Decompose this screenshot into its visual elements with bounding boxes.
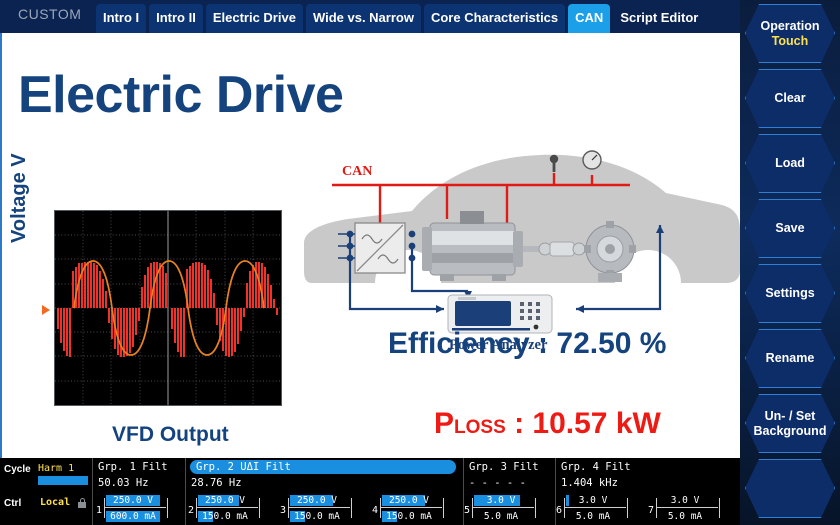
softkey-set-background-label: Un- / Set (765, 409, 816, 424)
softkey-operation-sub: Touch (772, 34, 809, 49)
softkey-rename[interactable]: Rename (745, 329, 835, 388)
softkey-load[interactable]: Load (745, 134, 835, 193)
tab-wide-vs-narrow[interactable]: Wide vs. Narrow (306, 4, 421, 33)
group-4-title: Grp. 4 Filt (561, 461, 631, 473)
tab-can[interactable]: CAN (568, 4, 610, 33)
channel-current: 5.0 mA (658, 511, 712, 522)
channel-number: 6 (556, 505, 562, 516)
channel-number: 4 (372, 505, 378, 516)
custom-menu-label[interactable]: CUSTOM (18, 6, 81, 22)
group-3-title: Grp. 3 Filt (469, 461, 539, 473)
main-canvas: Electric Drive CAN (0, 33, 740, 458)
vehicle-schematic: CAN (292, 113, 740, 363)
channel-number: 1 (96, 505, 102, 516)
can-bus-label: CAN (342, 164, 372, 179)
tab-intro-i[interactable]: Intro I (96, 4, 146, 33)
softkey-clear[interactable]: Clear (745, 69, 835, 128)
ctrl-value[interactable]: Local (40, 497, 70, 508)
ploss-value: : 10.57 kW (506, 407, 661, 440)
group-2-value: 28.76 Hz (191, 477, 242, 489)
softkey-save-label: Save (775, 221, 804, 236)
group-1-title: Grp. 1 Filt (98, 461, 168, 473)
channel-number: 5 (464, 505, 470, 516)
power-loss-readout: PLOSS : 10.57 kW (434, 407, 661, 441)
tab-bar: CUSTOM Intro I Intro II Electric Drive W… (0, 0, 740, 33)
softkey-clear-label: Clear (774, 91, 805, 106)
channel-voltage: 250.0 V (382, 495, 436, 506)
softkey-settings-label: Settings (765, 286, 814, 301)
cycle-label: Cycle (4, 464, 31, 475)
tab-intro-ii[interactable]: Intro II (149, 4, 203, 33)
scope-y-axis-label: Voltage V (8, 153, 31, 243)
group-1-value: 50.03 Hz (98, 477, 149, 489)
softkey-save[interactable]: Save (745, 199, 835, 258)
channel-current: 150.0 mA (290, 511, 344, 522)
channel-number: 7 (648, 505, 654, 516)
channel-current: 5.0 mA (474, 511, 528, 522)
channel-number: 3 (280, 505, 286, 516)
ctrl-label: Ctrl (4, 498, 21, 509)
status-cycle-section: Cycle Harm 1 Ctrl Local (0, 458, 92, 525)
softkey-operation-label: Operation (760, 19, 819, 34)
scope-trigger-marker (42, 305, 50, 315)
softkey-set-background-line2: Background (754, 424, 827, 439)
tab-list: Intro I Intro II Electric Drive Wide vs.… (96, 4, 705, 33)
group-2-title: Grp. 2 UΔI Filt (190, 460, 456, 474)
efficiency-readout: Efficiency : 72.50 % (388, 327, 666, 361)
ploss-prefix: P (434, 407, 454, 440)
tab-core-characteristics[interactable]: Core Characteristics (424, 4, 565, 33)
ploss-subscript: LOSS (454, 417, 506, 438)
softkey-settings[interactable]: Settings (745, 264, 835, 323)
tab-electric-drive[interactable]: Electric Drive (206, 4, 303, 33)
cycle-progress-bar (38, 476, 88, 485)
channel-voltage: 3.0 V (658, 495, 712, 506)
group-3-value: - - - - - (469, 477, 526, 489)
channel-number: 2 (188, 505, 194, 516)
channel-current: 600.0 mA (106, 511, 160, 522)
channel-voltage: 250.0 V (198, 495, 252, 506)
channel-voltage: 250.0 V (290, 495, 344, 506)
channel-voltage: 3.0 V (474, 495, 528, 506)
softkey-empty[interactable] (745, 459, 835, 518)
softkey-operation[interactable]: OperationTouch (745, 4, 835, 63)
softkey-load-label: Load (775, 156, 805, 171)
channel-current: 150.0 mA (382, 511, 436, 522)
tab-script-editor[interactable]: Script Editor (613, 4, 705, 33)
channel-current: 150.0 mA (198, 511, 252, 522)
scope-caption: VFD Output (112, 423, 229, 447)
oscilloscope-display[interactable] (54, 210, 282, 406)
channel-current: 5.0 mA (566, 511, 620, 522)
cycle-value[interactable]: Harm 1 (38, 463, 74, 474)
softkey-set-background[interactable]: Un- / SetBackground (745, 394, 835, 453)
lock-icon (78, 498, 86, 510)
channel-voltage: 3.0 V (566, 495, 620, 506)
status-bar: Cycle Harm 1 Ctrl Local Grp. 1 Filt 50.0… (0, 458, 740, 525)
softkey-rename-label: Rename (766, 351, 815, 366)
softkey-panel: OperationTouch Clear Load Save Settings … (740, 0, 840, 525)
group-4-value: 1.404 kHz (561, 477, 618, 489)
channel-voltage: 250.0 V (106, 495, 160, 506)
